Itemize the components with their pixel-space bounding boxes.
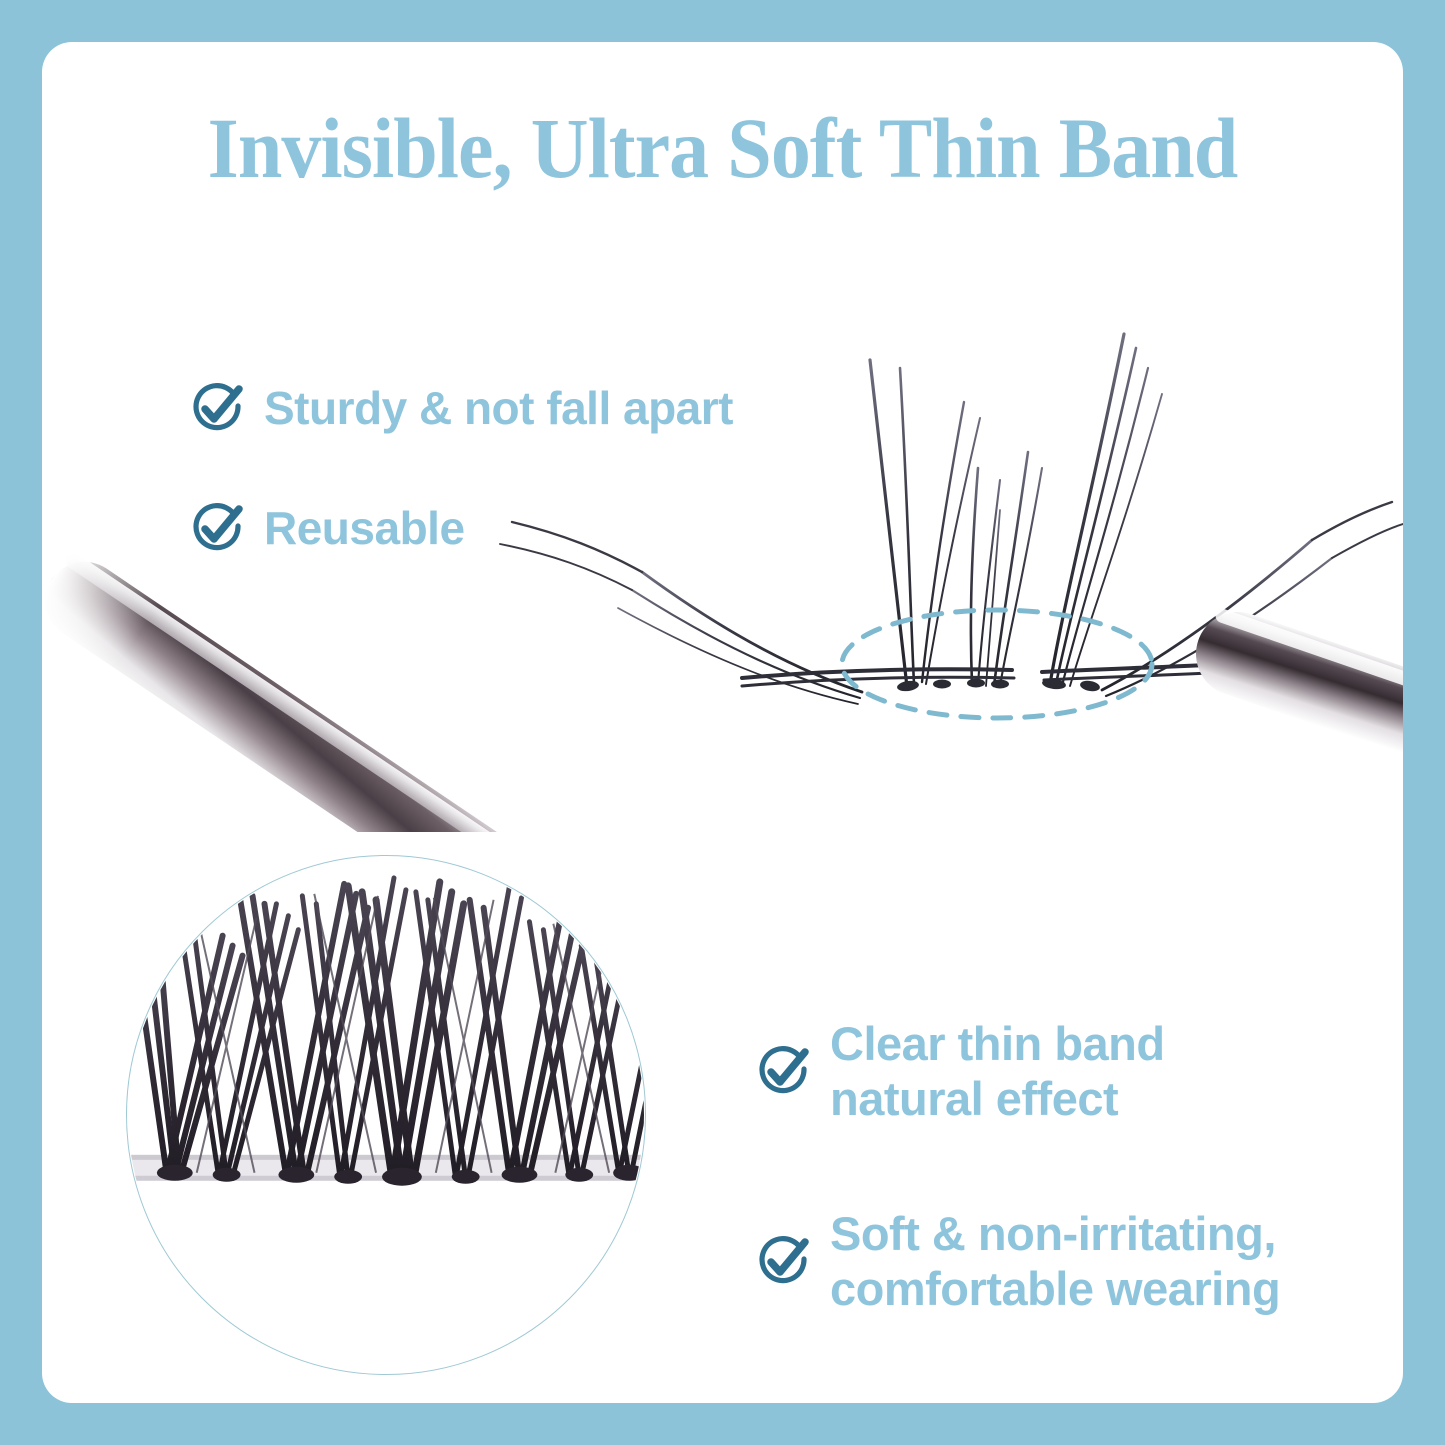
check-circle-icon (754, 1233, 812, 1291)
infographic-root: Invisible, Ultra Soft Thin Band (0, 0, 1445, 1445)
check-circle-icon (754, 1043, 812, 1101)
feature-item-sturdy: Sturdy & not fall apart (188, 380, 733, 438)
feature-item-clear-band: Clear thin band natural effect (754, 1017, 1165, 1126)
feature-label: Clear thin band natural effect (830, 1017, 1165, 1126)
tweezer-left (42, 547, 671, 832)
feature-label: Sturdy & not fall apart (264, 382, 733, 435)
feature-item-reusable: Reusable (188, 500, 465, 558)
check-circle-icon (188, 500, 246, 558)
feature-item-soft-comfortable: Soft & non-irritating, comfortable weari… (754, 1207, 1280, 1316)
page-title: Invisible, Ultra Soft Thin Band (90, 98, 1356, 198)
check-circle-icon (188, 380, 246, 438)
feature-label: Soft & non-irritating, comfortable weari… (830, 1207, 1280, 1316)
content-panel: Invisible, Ultra Soft Thin Band (42, 42, 1403, 1403)
tweezer-right (1185, 601, 1403, 832)
lash-band-macro-closeup-photo (126, 855, 646, 1375)
feature-label: Reusable (264, 502, 465, 555)
